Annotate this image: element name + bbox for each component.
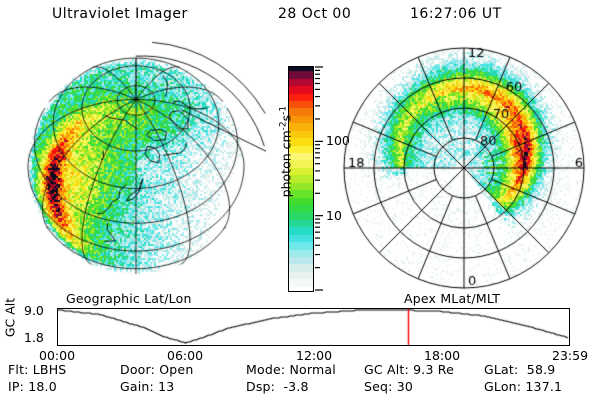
orbit-xtick-4: 23:59 bbox=[552, 348, 588, 363]
status-glon: GLon: 137.1 bbox=[484, 379, 562, 394]
status-row: IP: 18.0 Gain: 13 Dsp: -3.8 Seq: 30 GLon… bbox=[0, 379, 600, 396]
status-ip: IP: 18.0 bbox=[8, 379, 57, 394]
observation-date: 28 Oct 00 bbox=[278, 6, 351, 22]
orbit-altitude-trace bbox=[58, 309, 569, 345]
header-bar: Ultraviolet Imager 28 Oct 00 16:27:06 UT bbox=[0, 6, 600, 28]
colorbar-unit-exp2: -1 bbox=[278, 106, 288, 115]
status-seq: Seq: 30 bbox=[364, 379, 413, 394]
colorbar: 100 10 photon cm-2s-1 bbox=[262, 66, 340, 292]
status-panel: Flt: LBHS Door: Open Mode: Normal GC Alt… bbox=[0, 362, 600, 400]
status-gc-alt: GC Alt: 9.3 Re bbox=[364, 362, 454, 377]
colorbar-axis-title: photon cm-2s-1 bbox=[278, 82, 293, 222]
observation-time: 16:27:06 UT bbox=[410, 6, 502, 22]
orbit-plot-frame[interactable] bbox=[57, 308, 570, 346]
polar-auroral-image[interactable] bbox=[338, 42, 590, 294]
orbit-xtick-2: 12:00 bbox=[296, 348, 332, 363]
orbit-y-axis-label: GC Alt bbox=[3, 294, 18, 342]
polar-dial-panel[interactable] bbox=[338, 42, 590, 294]
colorbar-unit-exp1: -2 bbox=[278, 121, 288, 130]
instrument-title: Ultraviolet Imager bbox=[52, 6, 188, 22]
orbit-xtick-0: 00:00 bbox=[39, 348, 75, 363]
orbit-altitude-plot[interactable]: GC Alt 9.0 1.8 00:00 06:00 12:00 18:00 2… bbox=[0, 300, 600, 356]
status-flt: Flt: LBHS bbox=[8, 362, 66, 377]
orbit-xtick-1: 06:00 bbox=[167, 348, 203, 363]
colorbar-unit-photon: photon cm bbox=[279, 130, 294, 197]
status-door: Door: Open bbox=[120, 362, 193, 377]
status-gain: Gain: 13 bbox=[120, 379, 174, 394]
orbit-xtick-3: 18:00 bbox=[424, 348, 460, 363]
status-row: Flt: LBHS Door: Open Mode: Normal GC Alt… bbox=[0, 362, 600, 379]
geographic-image-panel[interactable] bbox=[18, 38, 266, 290]
colorbar-unit-s: s bbox=[279, 115, 294, 122]
status-glat: GLat: 58.9 bbox=[484, 362, 555, 377]
status-dsp: Dsp: -3.8 bbox=[246, 379, 309, 394]
geographic-auroral-image[interactable] bbox=[18, 38, 266, 290]
status-mode: Mode: Normal bbox=[246, 362, 336, 377]
